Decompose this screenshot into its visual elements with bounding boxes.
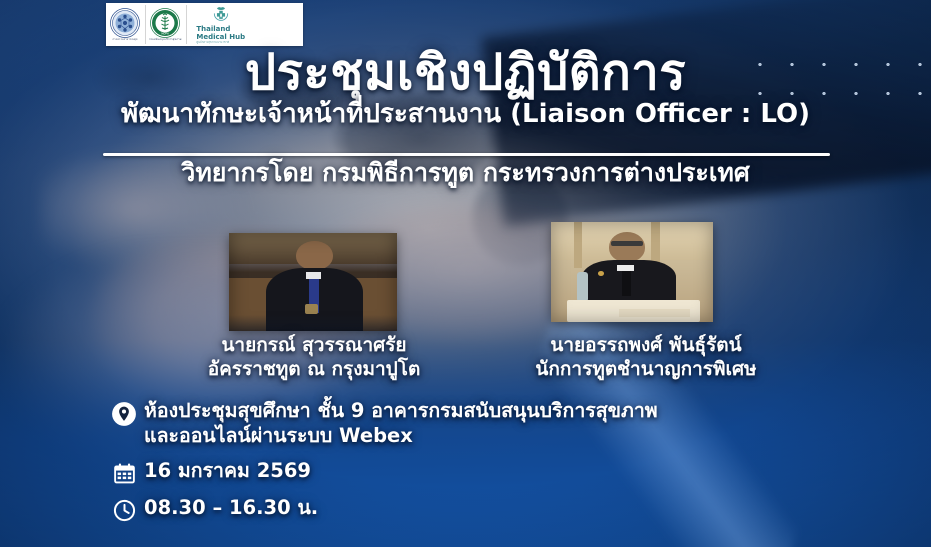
- time-row: 08.30 – 16.30 น.: [104, 496, 864, 523]
- date-row: 16 มกราคม 2569: [104, 459, 864, 486]
- speaker-left-position: อัครราชทูต ณ กรุงมาปูโต: [181, 358, 447, 382]
- venue-row: ห้องประชุมสุขศึกษา ชั้น 9 อาคารกรมสนับสน…: [104, 399, 864, 449]
- poster-subtitle: พัฒนาทักษะเจ้าหน้าที่ประสานงาน (Liaison …: [0, 100, 931, 130]
- organizer-line: วิทยากรโดย กรมพิธีการทูต กระทรวงการต่างป…: [0, 159, 931, 188]
- event-info-block: ห้องประชุมสุขศึกษา ชั้น 9 อาคารกรมสนับสน…: [104, 399, 864, 533]
- thailand-medical-hub-logo: Thailand Medical Hub ศูนย์กลางสุขภาพนานา…: [190, 5, 245, 44]
- date-text: 16 มกราคม 2569: [144, 459, 311, 484]
- speaker-photo-left: [229, 233, 397, 331]
- medical-hub-line3: ศูนย์กลางสุขภาพนานาชาติ: [196, 41, 245, 44]
- svg-text:MOPH: MOPH: [161, 31, 169, 35]
- poster-title: ประชุมเชิงปฏิบัติการ: [0, 48, 931, 98]
- ministry-seal-icon: [110, 8, 140, 38]
- time-text: 08.30 – 16.30 น.: [144, 496, 318, 521]
- venue-text: ห้องประชุมสุขศึกษา ชั้น 9 อาคารกรมสนับสน…: [144, 399, 658, 449]
- venue-line-1: ห้องประชุมสุขศึกษา ชั้น 9 อาคารกรมสนับสน…: [144, 399, 658, 424]
- logo-strip: กระทรวงสาธารณสุข MOPH กรมสนับสนุนบริการส…: [106, 3, 303, 46]
- ministry-seal-caption: กระทรวงสาธารณสุข: [113, 39, 138, 42]
- calendar-icon: [104, 459, 144, 486]
- title-divider: [103, 153, 830, 156]
- speaker-left-caption: นายกรณ์ สุวรรณาศรัย อัครราชทูต ณ กรุงมาป…: [181, 334, 447, 382]
- ministry-seal-logo: กระทรวงสาธารณสุข: [110, 5, 146, 44]
- clock-icon: [104, 496, 144, 523]
- speaker-photo-right: [551, 222, 713, 322]
- department-caption: กรมสนับสนุนบริการสุขภาพ: [149, 39, 181, 42]
- speaker-left-name: นายกรณ์ สุวรรณาศรัย: [181, 334, 447, 358]
- speaker-right-position: นักการทูตชำนาญการพิเศษ: [500, 358, 792, 382]
- title-block: ประชุมเชิงปฏิบัติการ พัฒนาทักษะเจ้าหน้าท…: [0, 48, 931, 130]
- location-pin-icon: [104, 399, 144, 427]
- venue-line-2: และออนไลน์ผ่านระบบ Webex: [144, 424, 658, 449]
- medical-hub-wordmark: Thailand Medical Hub ศูนย์กลางสุขภาพนานา…: [196, 26, 245, 44]
- speaker-right-caption: นายอรรถพงศ์ พันธุ์รัตน์ นักการทูตชำนาญกา…: [500, 334, 792, 382]
- speaker-right-name: นายอรรถพงศ์ พันธุ์รัตน์: [500, 334, 792, 358]
- poster-canvas: กระทรวงสาธารณสุข MOPH กรมสนับสนุนบริการส…: [0, 0, 931, 547]
- medical-hub-leaf-cross-icon: [205, 5, 237, 22]
- caduceus-icon: MOPH: [150, 8, 180, 38]
- department-health-service-support-logo: MOPH กรมสนับสนุนบริการสุขภาพ: [149, 5, 187, 44]
